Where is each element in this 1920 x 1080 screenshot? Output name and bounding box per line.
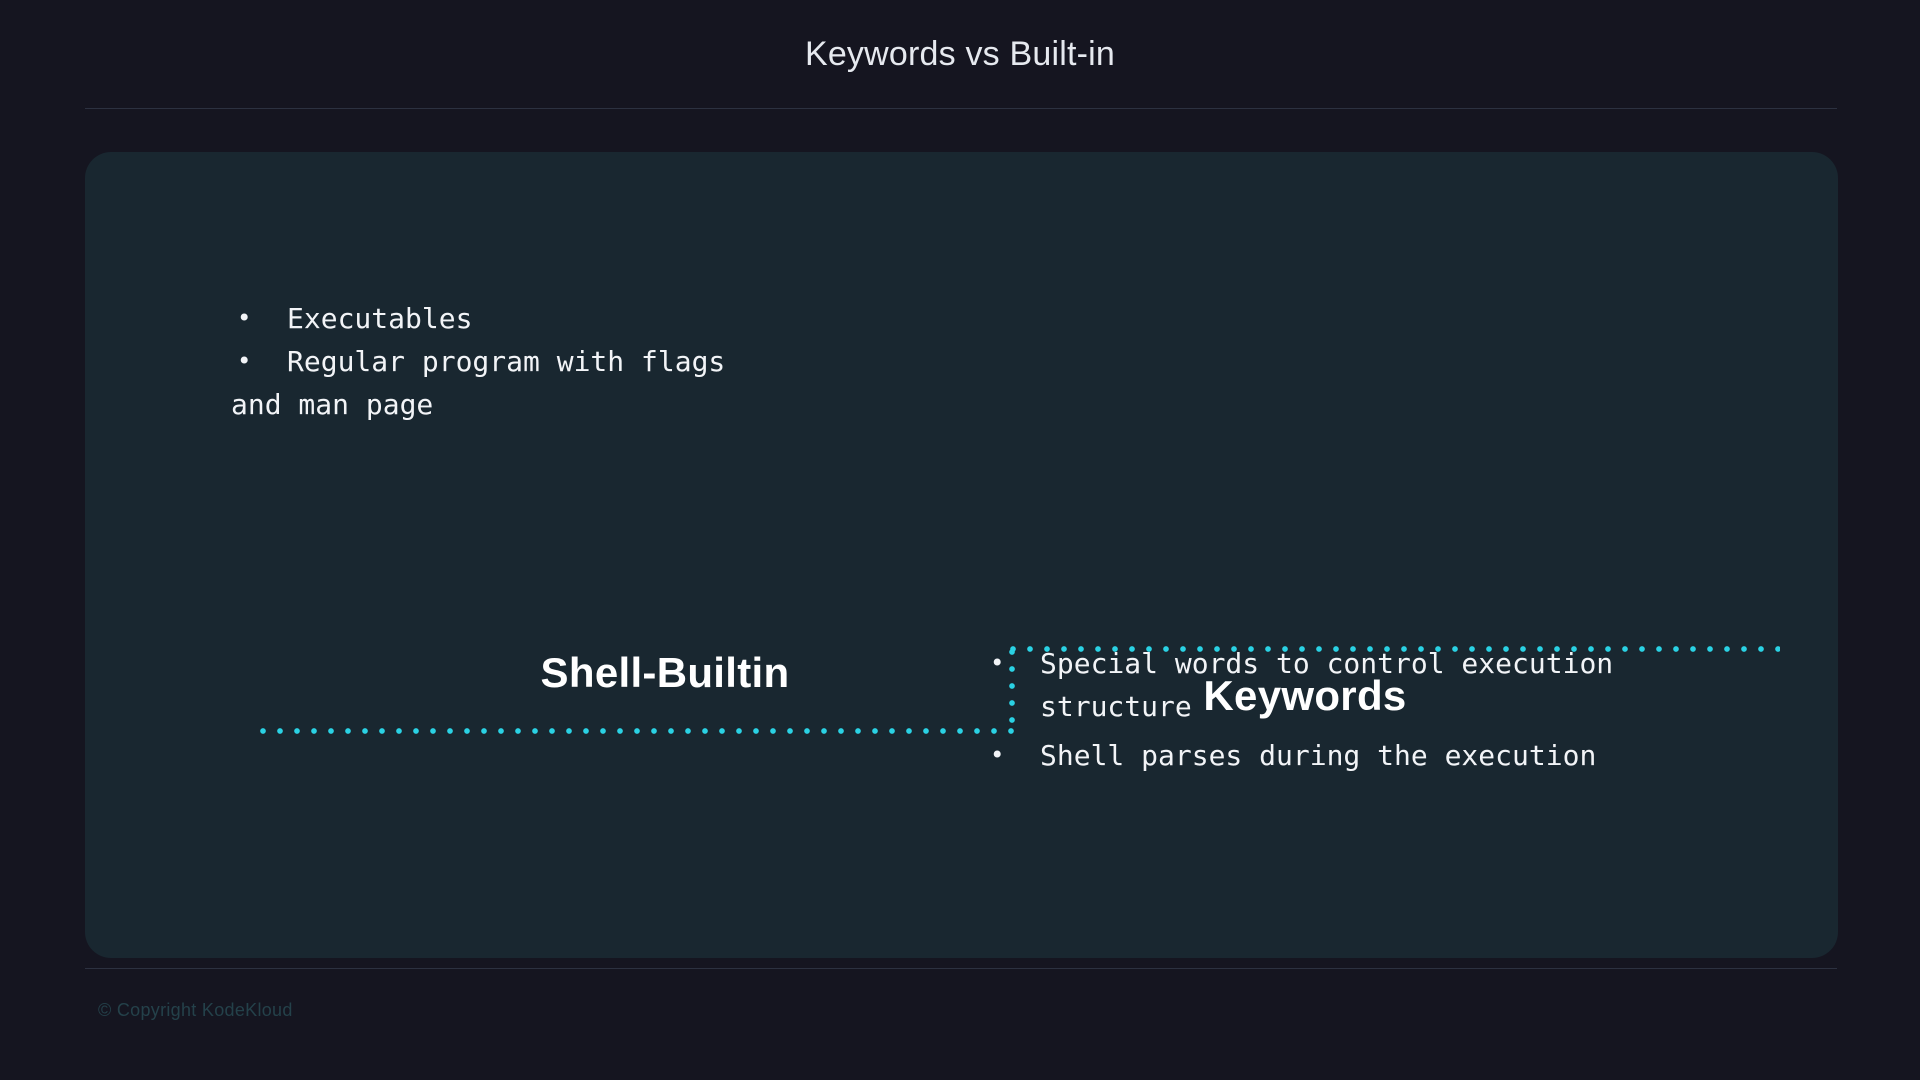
slide-canvas: Keywords vs Built-in • Executables • Reg… [0,0,1920,1080]
footer-divider [85,968,1837,969]
keywords-bullet-list: • Special words to control execution str… [990,642,1750,783]
list-item: • Shell parses during the execution [990,734,1750,777]
header-divider [85,108,1837,109]
shell-builtin-heading: Shell-Builtin [515,649,815,697]
content-card: • Executables • Regular program with fla… [85,152,1838,958]
list-item: • Regular program with flags [237,340,877,383]
list-item-label: Executables [237,297,877,340]
list-item: • Executables [237,297,877,340]
copyright-label: © Copyright KodeKloud [98,1000,293,1021]
list-item: • Special words to control execution str… [990,642,1750,728]
bullet-dot-icon: • [990,734,1040,777]
bullet-dot-icon: • [990,642,1040,685]
list-item-label: Regular program with flags [237,340,877,383]
list-item-label: Shell parses during the execution [1040,734,1740,777]
dotted-underline-shell-builtin [260,728,1015,734]
list-item-continuation-label: and man page [231,383,877,426]
list-item-label: Special words to control execution struc… [1040,642,1740,728]
shell-builtin-bullet-list: • Executables • Regular program with fla… [237,297,877,426]
page-title: Keywords vs Built-in [0,35,1920,74]
